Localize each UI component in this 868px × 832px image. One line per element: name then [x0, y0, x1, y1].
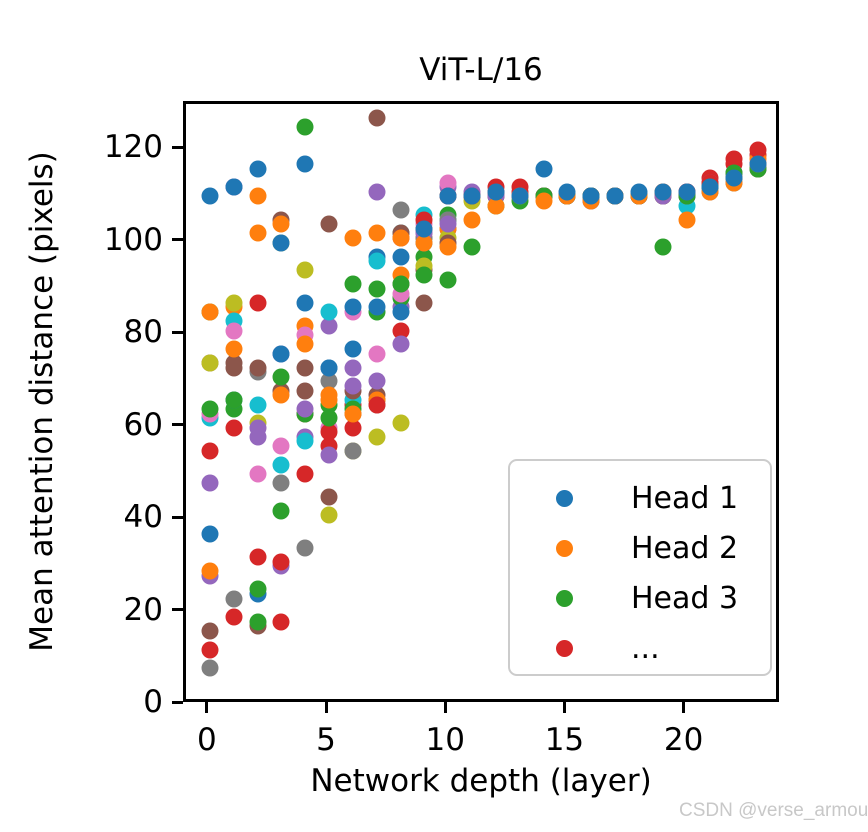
- y-tick-mark: [172, 331, 183, 334]
- scatter-point: [321, 304, 338, 321]
- scatter-point: [201, 354, 218, 371]
- legend-label: Head 3: [631, 581, 738, 616]
- legend-item[interactable]: Head 2: [510, 523, 770, 573]
- scatter-point: [249, 549, 266, 566]
- scatter-point: [344, 442, 361, 459]
- scatter-point: [392, 202, 409, 219]
- scatter-point: [630, 183, 647, 200]
- scatter-point: [392, 276, 409, 293]
- scatter-point: [344, 230, 361, 247]
- scatter-point: [487, 183, 504, 200]
- scatter-point: [225, 294, 242, 311]
- scatter-point: [750, 156, 767, 173]
- x-axis-label: Network depth (layer): [183, 763, 779, 799]
- y-tick-label: 80: [124, 314, 163, 350]
- scatter-point: [344, 299, 361, 316]
- scatter-point: [321, 387, 338, 404]
- scatter-point: [344, 359, 361, 376]
- scatter-point: [440, 216, 457, 233]
- scatter-point: [201, 623, 218, 640]
- scatter-point: [249, 160, 266, 177]
- scatter-point: [368, 396, 385, 413]
- legend-label: Head 2: [631, 531, 738, 566]
- scatter-point: [464, 211, 481, 228]
- x-tick-label: 0: [197, 722, 217, 758]
- scatter-point: [368, 225, 385, 242]
- y-tick-mark: [172, 238, 183, 241]
- scatter-point: [225, 179, 242, 196]
- y-tick-label: 120: [104, 129, 163, 165]
- y-tick-label: 60: [124, 407, 163, 443]
- x-tick-label: 20: [664, 722, 703, 758]
- x-tick-label: 10: [426, 722, 465, 758]
- legend-label: Head 1: [631, 481, 738, 516]
- scatter-point: [201, 475, 218, 492]
- scatter-point: [201, 641, 218, 658]
- scatter-point: [249, 188, 266, 205]
- y-tick-mark: [172, 608, 183, 611]
- scatter-point: [225, 419, 242, 436]
- scatter-point: [201, 304, 218, 321]
- scatter-point: [654, 239, 671, 256]
- scatter-point: [249, 225, 266, 242]
- scatter-point: [225, 322, 242, 339]
- y-tick-label: 100: [104, 222, 163, 258]
- scatter-point: [368, 373, 385, 390]
- scatter-point: [201, 442, 218, 459]
- scatter-point: [368, 299, 385, 316]
- scatter-point: [297, 359, 314, 376]
- scatter-point: [297, 336, 314, 353]
- legend-item[interactable]: Head 1: [510, 473, 770, 523]
- scatter-point: [249, 613, 266, 630]
- scatter-point: [321, 447, 338, 464]
- scatter-point: [416, 220, 433, 237]
- scatter-point: [511, 188, 528, 205]
- scatter-point: [273, 234, 290, 251]
- scatter-point: [273, 456, 290, 473]
- scatter-point: [225, 341, 242, 358]
- scatter-point: [297, 401, 314, 418]
- scatter-point: [344, 405, 361, 422]
- scatter-point: [440, 188, 457, 205]
- scatter-point: [392, 336, 409, 353]
- scatter-point: [249, 396, 266, 413]
- scatter-point: [368, 428, 385, 445]
- scatter-point: [654, 183, 671, 200]
- scatter-point: [702, 179, 719, 196]
- x-tick-mark: [682, 702, 685, 713]
- y-tick-label: 40: [124, 499, 163, 535]
- scatter-point: [583, 188, 600, 205]
- legend-marker-icon: [556, 540, 573, 557]
- scatter-point: [368, 253, 385, 270]
- scatter-point: [249, 294, 266, 311]
- scatter-point: [273, 368, 290, 385]
- scatter-point: [249, 465, 266, 482]
- scatter-point: [273, 502, 290, 519]
- scatter-point: [201, 188, 218, 205]
- scatter-point: [201, 401, 218, 418]
- scatter-point: [321, 488, 338, 505]
- legend-label: ...: [631, 631, 660, 666]
- y-tick-mark: [172, 146, 183, 149]
- legend: Head 1Head 2Head 3...: [508, 459, 772, 676]
- scatter-point: [201, 525, 218, 542]
- scatter-point: [392, 304, 409, 321]
- scatter-point: [392, 248, 409, 265]
- x-tick-mark: [325, 702, 328, 713]
- scatter-point: [297, 262, 314, 279]
- scatter-point: [535, 160, 552, 177]
- x-tick-mark: [205, 702, 208, 713]
- scatter-point: [321, 359, 338, 376]
- scatter-point: [297, 382, 314, 399]
- scatter-point: [678, 183, 695, 200]
- scatter-point: [440, 239, 457, 256]
- x-tick-mark: [563, 702, 566, 713]
- scatter-point: [678, 211, 695, 228]
- scatter-point: [249, 581, 266, 598]
- y-tick-label: 20: [124, 592, 163, 628]
- chart-title: ViT-L/16: [183, 52, 779, 88]
- scatter-point: [464, 188, 481, 205]
- legend-item[interactable]: ...: [510, 623, 770, 673]
- scatter-point: [273, 475, 290, 492]
- scatter-point: [440, 271, 457, 288]
- x-tick-mark: [444, 702, 447, 713]
- scatter-point: [225, 590, 242, 607]
- y-tick-mark: [172, 423, 183, 426]
- legend-marker-icon: [556, 640, 573, 657]
- scatter-point: [321, 507, 338, 524]
- scatter-point: [273, 387, 290, 404]
- scatter-point: [607, 188, 624, 205]
- scatter-point: [321, 216, 338, 233]
- scatter-point: [416, 267, 433, 284]
- scatter-point: [273, 613, 290, 630]
- scatter-point: [225, 391, 242, 408]
- scatter-point: [273, 216, 290, 233]
- scatter-point: [368, 280, 385, 297]
- scatter-point: [726, 169, 743, 186]
- scatter-point: [273, 345, 290, 362]
- scatter-point: [273, 438, 290, 455]
- x-tick-label: 15: [545, 722, 584, 758]
- y-tick-label: 0: [143, 684, 163, 720]
- y-axis-label: Mean attention distance (pixels): [22, 101, 62, 702]
- scatter-point: [297, 433, 314, 450]
- scatter-point: [368, 109, 385, 126]
- scatter-point: [392, 230, 409, 247]
- y-tick-mark: [172, 701, 183, 704]
- scatter-point: [344, 378, 361, 395]
- legend-marker-icon: [556, 590, 573, 607]
- scatter-point: [297, 465, 314, 482]
- scatter-point: [344, 276, 361, 293]
- scatter-point: [559, 183, 576, 200]
- scatter-point: [201, 660, 218, 677]
- scatter-point: [344, 341, 361, 358]
- scatter-point: [201, 562, 218, 579]
- scatter-point: [321, 410, 338, 427]
- scatter-point: [297, 539, 314, 556]
- scatter-point: [297, 119, 314, 136]
- watermark: CSDN @verse_armour: [679, 800, 868, 822]
- scatter-point: [368, 345, 385, 362]
- scatter-point: [249, 419, 266, 436]
- scatter-point: [249, 359, 266, 376]
- scatter-point: [416, 294, 433, 311]
- scatter-point: [392, 414, 409, 431]
- y-tick-mark: [172, 516, 183, 519]
- x-tick-label: 5: [316, 722, 336, 758]
- scatter-point: [297, 294, 314, 311]
- legend-marker-icon: [556, 490, 573, 507]
- scatter-point: [464, 239, 481, 256]
- scatter-point: [225, 609, 242, 626]
- scatter-point: [273, 553, 290, 570]
- scatter-point: [368, 183, 385, 200]
- scatter-point: [535, 193, 552, 210]
- legend-item[interactable]: Head 3: [510, 573, 770, 623]
- chart-figure: ViT-L/16 020406080100120 05101520 Networ…: [0, 0, 868, 832]
- scatter-point: [297, 156, 314, 173]
